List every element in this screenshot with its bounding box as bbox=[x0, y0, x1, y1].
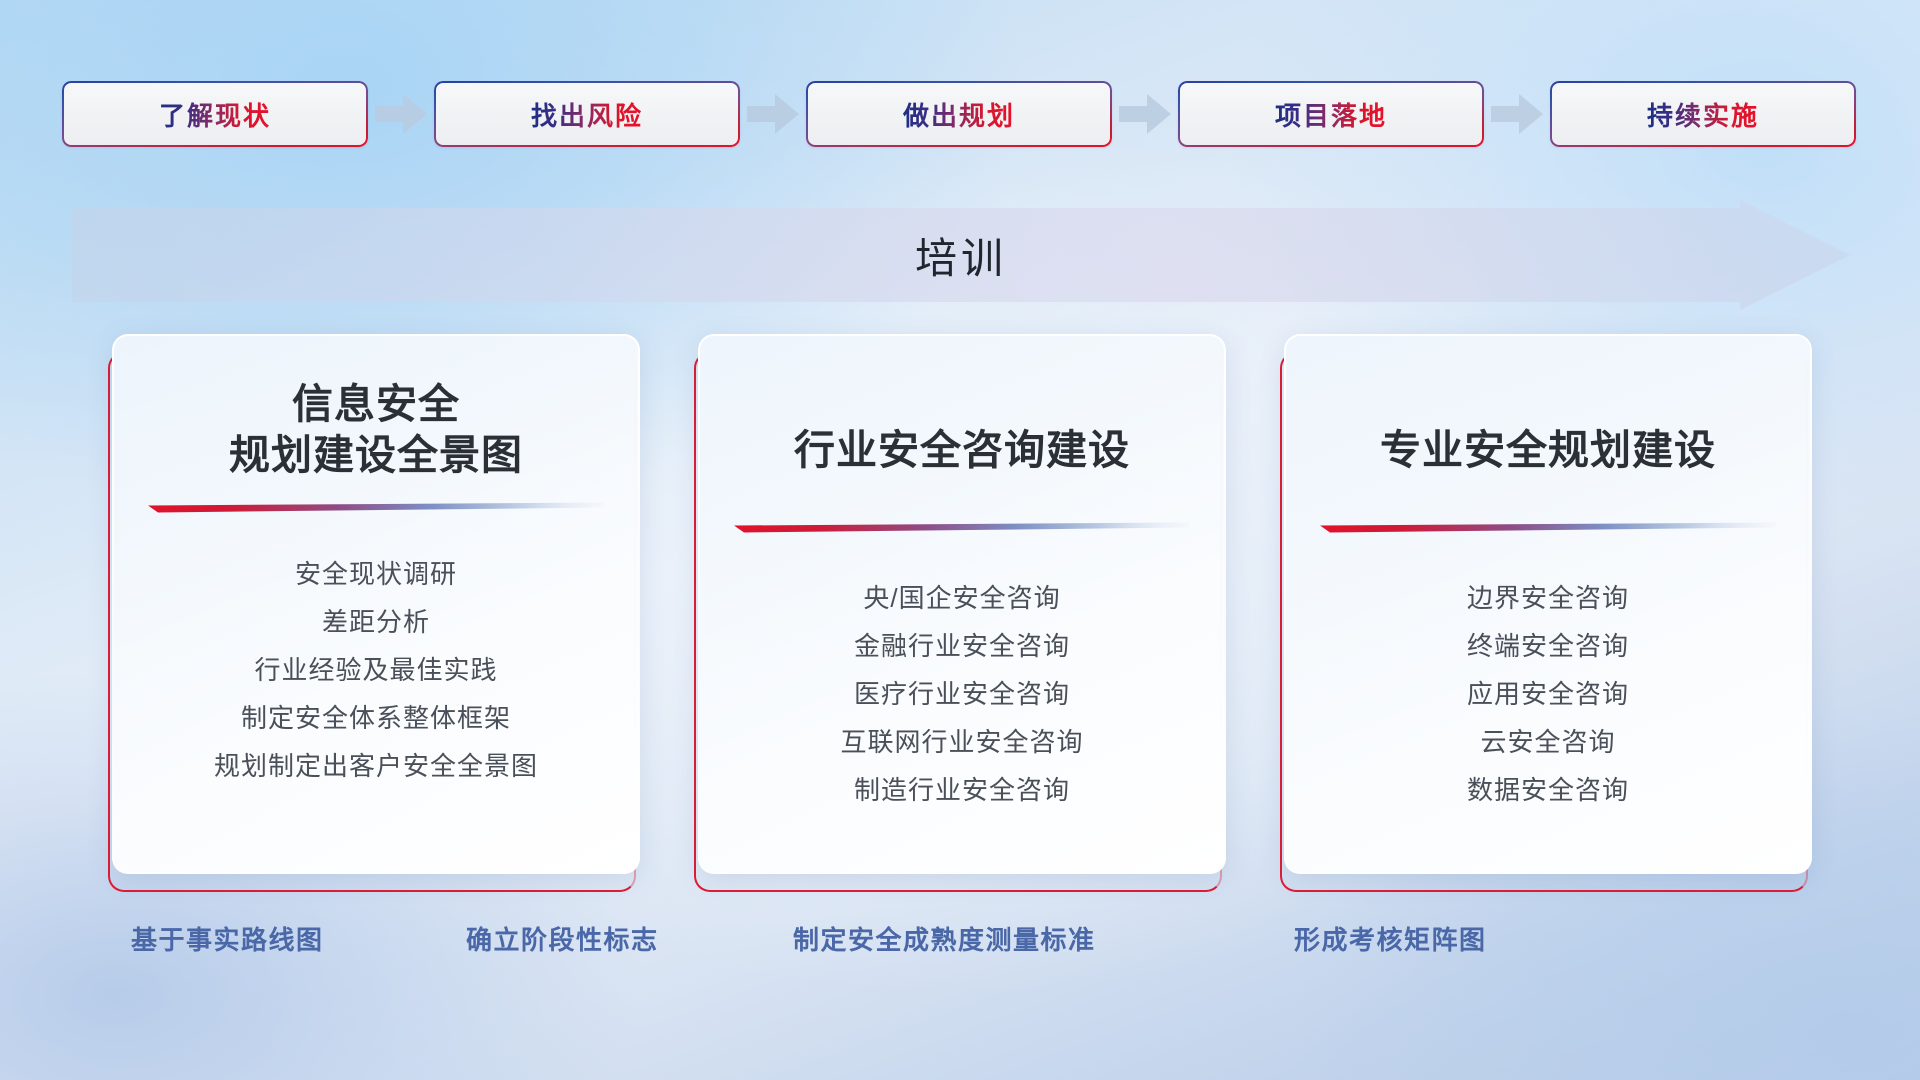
footer-label-0: 基于事实路线图 bbox=[131, 920, 324, 957]
flow-step-0[interactable]: 了解现状 bbox=[62, 81, 368, 147]
footer-label-1: 确立阶段性标志 bbox=[466, 920, 659, 957]
card-0[interactable]: 信息安全 规划建设全景图 bbox=[112, 334, 640, 874]
arrow-right-icon bbox=[1484, 92, 1550, 136]
list-item: 医疗行业安全咨询 bbox=[732, 670, 1192, 718]
process-flow: 了解现状 找出风险 做出规划 项目落地 bbox=[62, 78, 1862, 150]
list-item: 云安全咨询 bbox=[1318, 718, 1778, 766]
cards-row: 信息安全 规划建设全景图 bbox=[112, 334, 1812, 874]
footer-label-3: 形成考核矩阵图 bbox=[1294, 920, 1487, 957]
training-banner: 培训 bbox=[72, 200, 1850, 310]
flow-step-1[interactable]: 找出风险 bbox=[434, 81, 740, 147]
list-item: 规划制定出客户安全全景图 bbox=[146, 742, 606, 790]
list-item: 金融行业安全咨询 bbox=[732, 622, 1192, 670]
flow-step-label: 找出风险 bbox=[531, 96, 643, 133]
card-divider bbox=[1320, 522, 1776, 534]
list-item: 制造行业安全咨询 bbox=[732, 766, 1192, 814]
arrow-right-icon bbox=[740, 92, 806, 136]
list-item: 制定安全体系整体框架 bbox=[146, 694, 606, 742]
footer-label-2: 制定安全成熟度测量标准 bbox=[793, 920, 1096, 957]
list-item: 央/国企安全咨询 bbox=[732, 574, 1192, 622]
flow-step-4[interactable]: 持续实施 bbox=[1550, 81, 1856, 147]
card-surface: 信息安全 规划建设全景图 bbox=[112, 334, 640, 874]
card-list: 安全现状调研 差距分析 行业经验及最佳实践 制定安全体系整体框架 规划制定出客户… bbox=[146, 550, 606, 790]
flow-step-label: 持续实施 bbox=[1647, 96, 1759, 133]
card-divider bbox=[734, 522, 1190, 534]
list-item: 边界安全咨询 bbox=[1318, 574, 1778, 622]
card-divider bbox=[148, 502, 604, 514]
list-item: 终端安全咨询 bbox=[1318, 622, 1778, 670]
card-surface: 行业安全咨询建设 bbox=[698, 334, 1226, 874]
card-title: 专业安全规划建设 bbox=[1380, 396, 1716, 504]
flow-step-label: 了解现状 bbox=[159, 96, 271, 133]
card-2[interactable]: 专业安全规划建设 bbox=[1284, 334, 1812, 874]
card-1[interactable]: 行业安全咨询建设 bbox=[698, 334, 1226, 874]
card-list: 央/国企安全咨询 金融行业安全咨询 医疗行业安全咨询 互联网行业安全咨询 制造行… bbox=[732, 574, 1192, 814]
flow-step-3[interactable]: 项目落地 bbox=[1178, 81, 1484, 147]
flow-step-2[interactable]: 做出规划 bbox=[806, 81, 1112, 147]
list-item: 行业经验及最佳实践 bbox=[146, 646, 606, 694]
card-title: 行业安全咨询建设 bbox=[794, 396, 1130, 504]
arrow-right-icon bbox=[1112, 92, 1178, 136]
training-label: 培训 bbox=[72, 200, 1850, 310]
list-item: 互联网行业安全咨询 bbox=[732, 718, 1192, 766]
list-item: 数据安全咨询 bbox=[1318, 766, 1778, 814]
flow-step-label: 项目落地 bbox=[1275, 96, 1387, 133]
arrow-right-icon bbox=[368, 92, 434, 136]
card-surface: 专业安全规划建设 bbox=[1284, 334, 1812, 874]
card-list: 边界安全咨询 终端安全咨询 应用安全咨询 云安全咨询 数据安全咨询 bbox=[1318, 574, 1778, 814]
list-item: 安全现状调研 bbox=[146, 550, 606, 598]
card-title: 信息安全 规划建设全景图 bbox=[229, 376, 523, 484]
slide-canvas: 了解现状 找出风险 做出规划 项目落地 bbox=[0, 0, 1920, 1080]
flow-step-label: 做出规划 bbox=[903, 96, 1015, 133]
list-item: 差距分析 bbox=[146, 598, 606, 646]
list-item: 应用安全咨询 bbox=[1318, 670, 1778, 718]
